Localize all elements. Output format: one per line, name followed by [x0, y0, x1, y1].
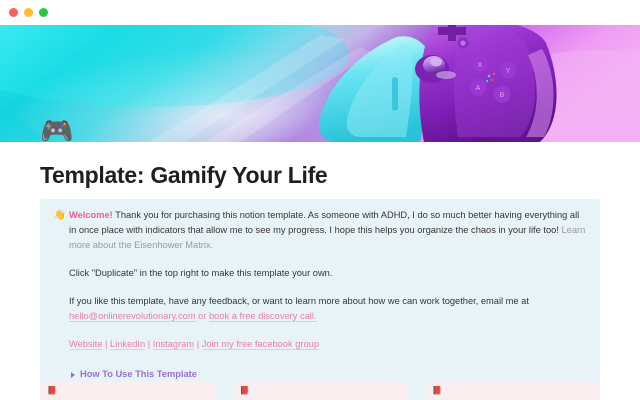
how-to-use-toggle[interactable]: How To Use This Template [69, 367, 586, 382]
contact-text-2: or [196, 311, 209, 321]
closed-book-icon: 📕 [240, 387, 250, 395]
page-title[interactable]: Template: Gamify Your Life [40, 162, 640, 189]
cover-artwork: X Y A B [0, 25, 640, 142]
callout-body: Welcome! Thank you for purchasing this n… [69, 208, 586, 400]
svg-text:Y: Y [506, 68, 511, 75]
bottom-card-row: 📕 📕 📕 [0, 382, 640, 400]
duplicate-instruction: Click "Duplicate" in the top right to ma… [69, 266, 586, 281]
callout-first-row: 👋 Welcome! Thank you for purchasing this… [54, 208, 586, 400]
closed-book-icon: 📕 [432, 387, 442, 395]
contact-text-1: If you like this template, have any feed… [69, 296, 529, 306]
welcome-body-text: Thank you for purchasing this notion tem… [69, 210, 579, 235]
link-separator-2: | [145, 339, 153, 349]
waving-hand-icon: 👋 [54, 208, 69, 223]
website-link[interactable]: Website [69, 339, 102, 350]
welcome-paragraph: Welcome! Thank you for purchasing this n… [69, 208, 586, 253]
close-window-button[interactable] [9, 8, 18, 17]
link-separator-3: | [194, 339, 202, 349]
bottom-card[interactable]: 📕 [40, 382, 215, 400]
closed-book-icon: 📕 [47, 387, 57, 395]
link-separator-1: | [102, 339, 110, 349]
welcome-lead: Welcome! [69, 210, 113, 220]
window-titlebar [0, 0, 640, 25]
traffic-light-group [9, 8, 48, 17]
contact-paragraph: If you like this template, have any feed… [69, 294, 586, 324]
bottom-card[interactable]: 📕 [233, 382, 408, 400]
linkedin-link[interactable]: LinkedIn [110, 339, 145, 350]
bottom-card[interactable]: 📕 [425, 382, 600, 400]
notion-page-window: X Y A B 🎮 Template: Gamify Your Life 👋 [0, 0, 640, 400]
page-icon[interactable]: 🎮 [40, 115, 72, 147]
social-links-row: Website | LinkedIn | Instagram | Join my… [69, 337, 586, 352]
instagram-link[interactable]: Instagram [153, 339, 194, 350]
svg-text:X: X [478, 62, 483, 69]
svg-text:B: B [500, 92, 505, 99]
maximize-window-button[interactable] [39, 8, 48, 17]
welcome-callout-block[interactable]: 👋 Welcome! Thank you for purchasing this… [40, 199, 600, 400]
minimize-window-button[interactable] [24, 8, 33, 17]
svg-text:A: A [476, 85, 481, 92]
page-cover-image[interactable]: X Y A B [0, 25, 640, 142]
discovery-call-link[interactable]: book a free discovery call. [209, 311, 316, 322]
email-link[interactable]: hello@onlinerevolutionary.com [69, 311, 196, 322]
page-content: Template: Gamify Your Life 👋 Welcome! Th… [0, 142, 640, 400]
how-to-use-toggle-label[interactable]: How To Use This Template [80, 367, 197, 382]
facebook-group-link[interactable]: Join my free facebook group [202, 339, 319, 350]
toggle-triangle-right-icon[interactable] [71, 372, 75, 378]
